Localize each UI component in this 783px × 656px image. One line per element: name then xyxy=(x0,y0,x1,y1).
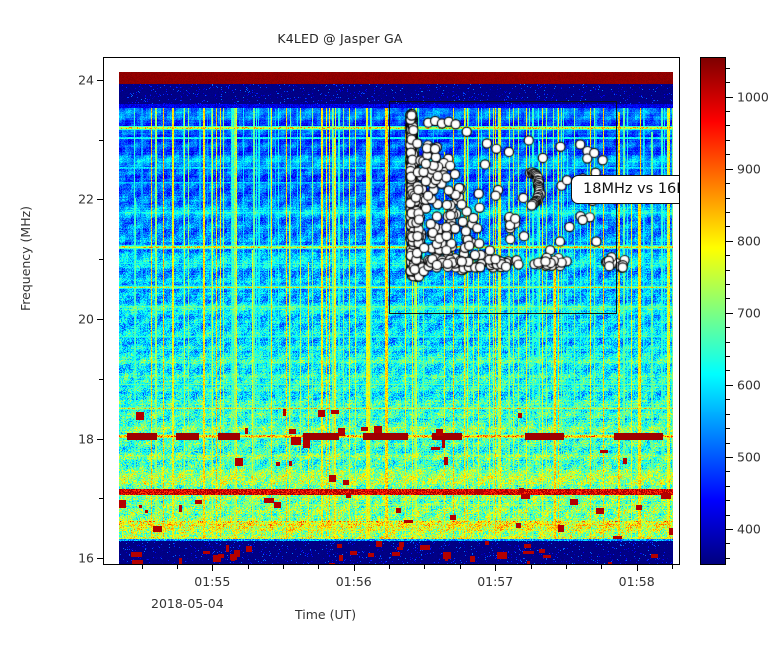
y-tick-major xyxy=(97,319,103,320)
colorbar-tick-major xyxy=(726,385,733,386)
colorbar-tick-minor xyxy=(726,428,730,429)
colorbar-tick-label: 600 xyxy=(737,377,761,392)
axes-pad-top xyxy=(104,58,679,72)
colorbar-tick-label: 700 xyxy=(737,305,761,320)
y-tick-label: 18 xyxy=(78,431,94,446)
y-tick-major xyxy=(97,199,103,200)
colorbar-tick-minor xyxy=(726,356,730,357)
colorbar-tick-minor xyxy=(726,140,730,141)
x-axis-date: 2018-05-04 xyxy=(151,596,224,611)
colorbar-tick-minor xyxy=(726,342,730,343)
colorbar-tick-minor xyxy=(726,111,730,112)
colorbar-tick-minor xyxy=(726,414,730,415)
colorbar-tick-major xyxy=(726,97,733,98)
colorbar-tick-label: 1000 xyxy=(737,89,769,104)
y-tick-major xyxy=(97,558,103,559)
main-axes: 18MHz vs 16MHz xyxy=(103,57,680,565)
x-tick-minor xyxy=(424,565,425,569)
x-tick-label: 01:56 xyxy=(336,574,372,589)
colorbar-tick-minor xyxy=(726,125,730,126)
x-tick-minor xyxy=(672,565,673,569)
x-tick-minor xyxy=(142,565,143,569)
axes-pad-left xyxy=(104,58,119,564)
x-tick-minor xyxy=(283,565,284,569)
x-tick-minor xyxy=(566,565,567,569)
y-tick-minor xyxy=(99,140,103,141)
colorbar-tick-label: 900 xyxy=(737,161,761,176)
colorbar-tick-minor xyxy=(726,284,730,285)
x-tick-minor xyxy=(601,565,602,569)
colorbar-tick-minor xyxy=(726,399,730,400)
colorbar-tick-minor xyxy=(726,558,730,559)
axes-pad-right xyxy=(673,58,679,564)
x-tick-minor xyxy=(460,565,461,569)
annotation-label: 18MHz vs 16MHz xyxy=(571,175,679,204)
colorbar-tick-major xyxy=(726,241,733,242)
y-tick-minor xyxy=(99,498,103,499)
colorbar-tick-minor xyxy=(726,154,730,155)
x-tick-minor xyxy=(177,565,178,569)
x-tick-label: 01:57 xyxy=(477,574,513,589)
scatter-overlay xyxy=(119,72,673,564)
y-tick-label: 20 xyxy=(78,312,94,327)
x-tick-major xyxy=(637,565,638,571)
y-tick-major xyxy=(97,439,103,440)
colorbar-tick-label: 800 xyxy=(737,233,761,248)
y-tick-label: 16 xyxy=(78,551,94,566)
x-tick-major xyxy=(212,565,213,571)
y-tick-major xyxy=(97,80,103,81)
colorbar-tick-minor xyxy=(726,212,730,213)
colorbar-tick-minor xyxy=(726,327,730,328)
colorbar-gradient xyxy=(701,58,725,564)
colorbar-tick-minor xyxy=(726,82,730,83)
colorbar xyxy=(700,57,726,565)
colorbar-tick-major xyxy=(726,457,733,458)
x-tick-label: 01:55 xyxy=(194,574,230,589)
y-axis-label: Frequency (MHz) xyxy=(18,206,33,311)
x-axis-label: Time (UT) xyxy=(295,607,356,622)
x-tick-major xyxy=(495,565,496,571)
colorbar-tick-minor xyxy=(726,370,730,371)
colorbar-tick-major xyxy=(726,169,733,170)
x-tick-minor xyxy=(318,565,319,569)
chart-title: K4LED @ Jasper GA xyxy=(0,31,680,46)
colorbar-tick-minor xyxy=(726,68,730,69)
colorbar-tick-major xyxy=(726,313,733,314)
colorbar-tick-minor xyxy=(726,471,730,472)
colorbar-tick-label: 500 xyxy=(737,449,761,464)
colorbar-tick-major xyxy=(726,529,733,530)
colorbar-tick-minor xyxy=(726,543,730,544)
y-tick-label: 24 xyxy=(78,72,94,87)
figure-canvas: K4LED @ Jasper GA 18MHz vs 16MHz Frequen… xyxy=(0,0,783,656)
plot-clip: 18MHz vs 16MHz xyxy=(104,58,679,564)
colorbar-tick-minor xyxy=(726,486,730,487)
colorbar-tick-minor xyxy=(726,443,730,444)
colorbar-tick-minor xyxy=(726,270,730,271)
y-tick-label: 22 xyxy=(78,192,94,207)
colorbar-tick-minor xyxy=(726,500,730,501)
x-tick-minor xyxy=(531,565,532,569)
x-tick-minor xyxy=(248,565,249,569)
colorbar-tick-minor xyxy=(726,255,730,256)
y-tick-minor xyxy=(99,379,103,380)
x-tick-label: 01:58 xyxy=(619,574,655,589)
x-tick-major xyxy=(354,565,355,571)
colorbar-tick-minor xyxy=(726,298,730,299)
colorbar-tick-minor xyxy=(726,515,730,516)
colorbar-tick-minor xyxy=(726,226,730,227)
colorbar-tick-minor xyxy=(726,198,730,199)
y-tick-minor xyxy=(99,259,103,260)
colorbar-tick-label: 400 xyxy=(737,521,761,536)
spectrogram-image xyxy=(119,72,673,564)
colorbar-tick-minor xyxy=(726,183,730,184)
x-tick-minor xyxy=(389,565,390,569)
